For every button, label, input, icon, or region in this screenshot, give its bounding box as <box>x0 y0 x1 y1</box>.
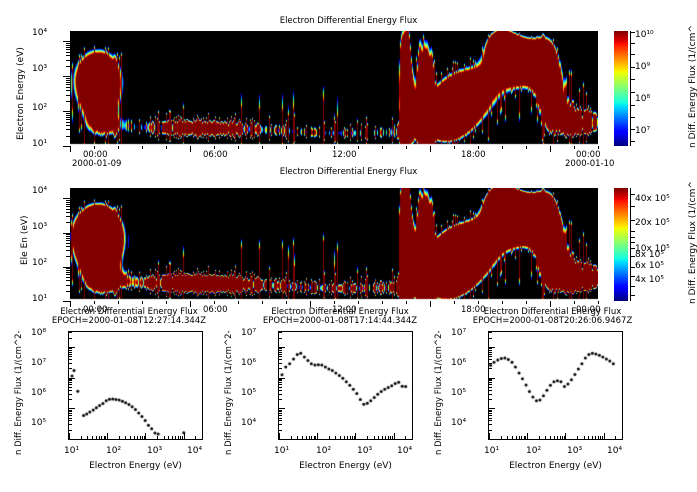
spectrum-1-ytick <box>69 348 72 349</box>
spectrogram-mid-xtick <box>478 301 479 304</box>
spectrogram-top-ytick <box>66 78 70 79</box>
spectrogram-mid-cbtick-5: 20x 10⁵ <box>635 218 670 228</box>
spectrum-2-ytick <box>279 356 282 357</box>
spectrogram-top-ytick <box>66 52 70 53</box>
spectrum-1-xtick <box>92 436 93 439</box>
spectrogram-mid-colorbar-label: n Diff. Energy Flux (1/(cm^ <box>688 181 697 304</box>
spectrum-2-ytick-3: 10⁶ <box>241 358 256 368</box>
spectrum-3-xtick <box>516 436 517 439</box>
spectrum-1-xtick <box>137 436 138 439</box>
spectrum-3-ytick-2: 10⁵ <box>451 388 466 398</box>
spectrogram-mid-ytick <box>66 204 70 205</box>
spectrum-1-ytick <box>69 379 72 380</box>
spectrum-1-ytick-2: 10⁶ <box>31 388 46 398</box>
spectrogram-mid-cbtick <box>630 248 635 249</box>
spectrum-2-xtick-2: 10² <box>316 446 331 456</box>
spectrogram-mid-ytick-4: 10⁴ <box>32 186 47 196</box>
spectrum-3-ytick <box>489 418 492 419</box>
spectrogram-mid-xtick <box>214 301 215 304</box>
spectrum-1-ytick-3: 10⁷ <box>31 358 46 368</box>
spectrum-1-ytick <box>69 430 72 431</box>
spectrum-1-ytick <box>69 424 72 425</box>
spectrum-1-ytick <box>69 368 72 369</box>
spectrum-1-ytick <box>69 399 72 400</box>
spectrum-1-xtick-4: 10⁴ <box>187 446 202 456</box>
spectrum-2-ytick <box>279 347 285 348</box>
spectrogram-mid-xtick <box>598 301 599 304</box>
spectrogram-mid-ytick <box>66 277 70 278</box>
spectrogram-top-xtick <box>454 146 455 149</box>
spectrum-3-xtick <box>560 436 561 439</box>
spectrum-1-xtick <box>125 436 126 439</box>
spectrum-3-xtick <box>615 436 616 439</box>
spectrogram-mid-ytick <box>66 268 70 269</box>
spectrogram-top-ylabel: Electron Energy (eV) <box>16 47 26 140</box>
spectrum-2-ytick <box>279 420 282 421</box>
spectrum-1-ytick <box>69 439 75 440</box>
spectrum-2-xtick <box>329 436 330 439</box>
spectrogram-top-xtick <box>262 146 263 149</box>
spectrum-2-xtick-3: 10³ <box>357 446 372 456</box>
spectrum-1-xtick-1: 10¹ <box>64 446 79 456</box>
spectrogram-top-xtick <box>406 146 407 149</box>
spectrum-1-ytick <box>69 387 72 388</box>
spectrogram-top-xtick <box>358 146 359 149</box>
spectrum-3-ytick <box>489 411 492 412</box>
spectrum-2-xtick <box>367 436 368 439</box>
spectrogram-top-ytick <box>66 125 70 126</box>
spectrum-3-xtick-2: 10² <box>526 446 541 456</box>
spectrogram-mid-ytick <box>66 238 70 239</box>
spectrum-2-plot[interactable] <box>278 331 413 440</box>
spectrogram-mid-ytick <box>66 202 70 203</box>
spectrogram-top-ytick <box>66 115 70 116</box>
spectrum-2-ytick <box>279 439 285 440</box>
spectrogram-top-xtick <box>478 146 479 149</box>
spectrum-2-ytick <box>279 424 282 425</box>
spectrogram-mid-cbtick <box>630 256 635 257</box>
spectrogram-mid-ytick <box>66 222 70 223</box>
spectrum-2-ytick <box>279 348 282 349</box>
spectrogram-mid-ytick <box>66 200 70 201</box>
spectrum-3-ytick <box>489 338 492 339</box>
spectrum-2-xtick <box>374 436 375 439</box>
spectrogram-top-ytick <box>66 122 70 123</box>
spectrum-3-xtick <box>554 436 555 439</box>
spectrum-2-xtick <box>352 436 353 439</box>
spectrogram-mid-xtick <box>454 301 455 304</box>
spectrum-2-ytick <box>279 352 282 353</box>
spectrum-2-ytick <box>279 415 282 416</box>
spectrogram-top-cbtick-3: 10⁹ <box>635 62 650 72</box>
spectrogram-top-ytick <box>66 117 70 118</box>
spectrum-1-xtick <box>87 436 88 439</box>
spectrum-2-ytick <box>279 363 282 364</box>
spectrogram-mid-ytick <box>63 233 70 234</box>
spectrum-2-xtick <box>306 436 307 439</box>
spectrogram-mid-colorbar-axis <box>630 188 631 301</box>
spectrogram-mid-ytick <box>66 280 70 281</box>
spectrogram-mid-cbtick <box>630 220 635 221</box>
spectrogram-mid-ytick <box>66 270 70 271</box>
spectrum-3-xtick <box>604 433 605 439</box>
spectrum-3-ytick <box>489 430 492 431</box>
spectrogram-top-ytick <box>66 66 70 67</box>
spectrogram-top-cbtick-1: 10⁷ <box>635 126 650 136</box>
spectrogram-mid-ytick-1: 10¹ <box>32 294 47 304</box>
spectrum-3-xtick <box>545 436 546 439</box>
spectrum-2-xtick-1: 10¹ <box>274 446 289 456</box>
spectrum-1-xtick <box>107 433 108 439</box>
spectrogram-top-cbtick <box>630 92 635 93</box>
spectrum-2-ytick <box>279 399 282 400</box>
spectrogram-top-cbtick <box>630 67 635 68</box>
spectrogram-mid-ytick <box>66 250 70 251</box>
spectrum-3-xlabel: Electron Energy (eV) <box>488 461 623 471</box>
spectrum-3-ytick-1: 10⁴ <box>451 418 466 428</box>
spectrum-3-xtick <box>600 436 601 439</box>
spectrum-1-ytick <box>69 354 72 355</box>
spectrum-1-ytick <box>69 332 72 333</box>
spectrogram-mid-xtick <box>430 301 431 307</box>
spectrogram-top-xtick <box>310 146 311 152</box>
spectrogram-top-xtick <box>94 146 95 149</box>
spectrogram-mid-xtick <box>382 301 383 304</box>
spectrum-3-ytick <box>489 415 492 416</box>
spectrum-1-xtick <box>180 436 181 439</box>
spectrum-1-xtick <box>104 436 105 439</box>
spectrum-2-xtick <box>314 436 315 439</box>
spectrum-2-ytick-4: 10⁷ <box>241 328 256 338</box>
spectrogram-top-ytick <box>66 90 70 91</box>
spectrum-1-ytick <box>69 390 72 391</box>
spectrogram-mid-xtick <box>262 301 263 304</box>
spectrogram-top-ytick-3: 10³ <box>32 64 47 74</box>
spectrum-3-xtick <box>539 436 540 439</box>
spectrogram-top-xtick <box>70 146 71 152</box>
spectrogram-top-xtick <box>574 146 575 149</box>
spectrogram-top-ytick-2: 10² <box>32 103 47 113</box>
spectrum-1-ytick <box>69 359 72 360</box>
spectrum-1-xtick <box>202 436 203 439</box>
spectrum-3-xtick <box>588 436 589 439</box>
spectrogram-top-ytick-1: 10¹ <box>32 139 47 149</box>
spectrogram-mid-cbtick <box>630 231 635 232</box>
spectrum-1-ytick <box>69 384 72 385</box>
spectrum-3-xtick <box>562 436 563 439</box>
spectrum-3-ytick <box>489 359 492 360</box>
spectrogram-top-cbtick <box>630 129 635 130</box>
spectrogram-top-ytick <box>66 80 70 81</box>
spectrum-1-ytick <box>69 420 72 421</box>
spectrum-3-ytick-4: 10⁷ <box>451 328 466 338</box>
spectrum-2-ytick <box>279 382 282 383</box>
spectrogram-top-ytick <box>66 129 70 130</box>
spectrum-3-ytick <box>489 348 492 349</box>
spectrum-2-xtick <box>382 436 383 439</box>
spectrum-1-xtick <box>157 436 158 439</box>
spectrogram-mid-cbtick-2: 6x 10⁵ <box>635 261 664 271</box>
spectrogram-top-ytick <box>66 113 70 114</box>
spectrum-2-xtick <box>297 436 298 439</box>
spectrum-2-ytick <box>279 350 282 351</box>
spectrum-1-ytick <box>69 350 72 351</box>
spectrum-2-xtick <box>390 436 391 439</box>
spectrogram-top-xtick <box>550 146 551 152</box>
spectrogram-top-ytick <box>66 101 70 102</box>
spectrum-3-xtick <box>527 433 528 439</box>
spectrum-1-ytick <box>69 380 72 381</box>
spectrum-2-ytick <box>279 368 282 369</box>
spectrogram-mid-plot[interactable] <box>70 188 598 301</box>
spectrum-3-ytick <box>489 413 492 414</box>
spectrogram-mid-title: Electron Differential Energy Flux <box>0 167 697 177</box>
spectrogram-top-ytick <box>66 45 70 46</box>
spectrum-2-xlabel: Electron Energy (eV) <box>278 461 413 471</box>
spectrogram-top-xtick <box>118 146 119 149</box>
spectrum-1-xtick <box>178 436 179 439</box>
spectrogram-mid-xtick <box>406 301 407 304</box>
spectrogram-mid-cbtick <box>630 194 635 195</box>
spectrum-1-xtick <box>168 436 169 439</box>
spectrum-3-ytick <box>489 439 495 440</box>
spectrum-1-xtick <box>134 436 135 439</box>
spectrogram-top-xtick-1: 06:00 <box>203 150 228 160</box>
spectrum-2-xtick <box>302 436 303 439</box>
spectrum-1-plot[interactable] <box>68 331 203 440</box>
spectrogram-top-ytick-4: 10⁴ <box>32 28 47 38</box>
spectrum-2-ytick <box>279 354 282 355</box>
spectrogram-top-xtick <box>142 146 143 149</box>
spectrum-1-xtick <box>175 436 176 439</box>
spectrum-2-xtick <box>347 436 348 439</box>
spectrogram-mid-ytick <box>66 243 70 244</box>
spectrum-3-ytick <box>489 394 492 395</box>
spectrum-2-xtick <box>344 436 345 439</box>
spectrum-2-ytick <box>279 338 282 339</box>
spectrogram-mid-ytick <box>66 212 70 213</box>
spectrogram-mid-ytick <box>66 246 70 247</box>
spectrum-3-xtick <box>521 436 522 439</box>
spectrum-3-ytick <box>489 390 492 391</box>
spectrum-3-ytick-3: 10⁶ <box>451 358 466 368</box>
spectrogram-top-ytick <box>66 47 70 48</box>
spectrogram-mid-ytick-3: 10³ <box>32 222 47 232</box>
spectrum-3-plot[interactable] <box>488 331 623 440</box>
spectrogram-top-ytick <box>63 111 70 112</box>
spectrum-1-xtick <box>145 433 146 439</box>
spectrum-3-xtick <box>577 436 578 439</box>
spectrum-2-ytick <box>279 394 282 395</box>
spectrum-3-ytick <box>489 354 492 355</box>
spectrum-3-epoch: EPOCH=2000-01-08T20:26:06.9467Z <box>455 316 650 326</box>
spectrogram-top-xtick <box>214 146 215 149</box>
spectrum-3-ytick <box>489 382 492 383</box>
spectrogram-mid-ytick <box>66 209 70 210</box>
spectrum-2-xtick <box>355 433 356 439</box>
spectrum-3-ytick <box>489 384 492 385</box>
spectrum-3-xtick <box>519 436 520 439</box>
spectrum-3-ytick <box>489 420 492 421</box>
spectrum-3-ytick <box>489 378 495 379</box>
spectrogram-top-xtick <box>166 146 167 149</box>
spectrogram-top-xtick <box>190 146 191 152</box>
spectrum-1-ytick <box>69 408 75 409</box>
spectrogram-mid-cbtick-1: 4x 10⁵ <box>635 275 664 285</box>
spectrogram-mid-cbtick <box>630 206 635 207</box>
spectrogram-mid-ytick <box>66 234 70 235</box>
spectrum-1-ytick-4: 10⁸ <box>31 328 46 338</box>
spectrum-3-ytick <box>489 387 492 388</box>
spectrum-2-xtick <box>412 436 413 439</box>
spectrum-3-xtick-4: 10⁴ <box>607 446 622 456</box>
spectrogram-top-cbtick <box>630 54 635 55</box>
spectrogram-top-ytick <box>66 84 70 85</box>
spectrum-3-ytick <box>489 347 495 348</box>
spectrogram-mid-cbtick <box>630 286 635 287</box>
spectrum-2-ytick <box>279 430 282 431</box>
spectrogram-top-ytick <box>66 43 70 44</box>
spectrum-2-ytick <box>279 408 285 409</box>
spectrum-2-xtick <box>309 436 310 439</box>
spectrogram-top-xtick-2: 12:00 <box>332 150 357 160</box>
spectrogram-top-cbtick <box>630 43 635 44</box>
spectrum-2-ytick <box>279 384 282 385</box>
spectrum-2-xtick <box>388 436 389 439</box>
spectrum-2-ytick <box>279 411 282 412</box>
spectrum-2-ytick-2: 10⁵ <box>241 388 256 398</box>
spectrum-3-xtick <box>512 436 513 439</box>
spectrogram-mid-xtick <box>166 301 167 304</box>
spectrum-3-xtick <box>501 436 502 439</box>
spectrum-2-xtick <box>405 436 406 439</box>
spectrum-3-ytick <box>489 350 492 351</box>
spectrum-1-ytick <box>69 410 72 411</box>
spectrogram-top-ytick <box>63 146 70 147</box>
spectrum-3-xtick <box>598 436 599 439</box>
spectrum-2-xtick <box>335 436 336 439</box>
spectrum-2-ytick <box>279 390 282 391</box>
spectrum-2-ytick <box>279 413 282 414</box>
spectrogram-top-ytick <box>63 76 70 77</box>
spectrum-2-ylabel: n Diff. Energy Flux (1/(cm^2- <box>224 330 234 455</box>
spectrum-3-ytick <box>489 410 492 411</box>
spectrogram-top-cbtick <box>630 105 635 106</box>
spectrum-1-xtick <box>101 436 102 439</box>
spectrum-2-ytick <box>279 387 282 388</box>
spectrum-1-xtick <box>195 436 196 439</box>
spectrogram-top-ytick <box>66 95 70 96</box>
spectrum-1-ytick <box>69 394 72 395</box>
spectrum-1-xtick <box>142 436 143 439</box>
spectrogram-mid-xtick <box>70 301 71 307</box>
spectrum-3-xtick <box>550 436 551 439</box>
spectrum-1-xtick <box>99 436 100 439</box>
spectrum-1-ytick <box>69 356 72 357</box>
spectrogram-top-ytick <box>66 82 70 83</box>
spectrogram-top-colorbar[interactable] <box>614 31 628 146</box>
spectrum-1-ylabel: n Diff. Energy Flux (1/(cm^2- <box>14 330 24 455</box>
spectrogram-mid-xtick <box>238 301 239 304</box>
spectrum-1-xtick <box>184 433 185 439</box>
spectrogram-mid-ytick <box>66 285 70 286</box>
spectrum-3-ytick <box>489 356 492 357</box>
spectrogram-mid-xtick <box>94 301 95 304</box>
spectrogram-top-xtick <box>526 146 527 149</box>
spectrogram-top-ytick <box>66 136 70 137</box>
spectrum-3-xtick <box>507 436 508 439</box>
spectrogram-mid-colorbar[interactable] <box>614 188 628 301</box>
spectrogram-top-cbtick-2: 10⁸ <box>635 94 650 104</box>
spectrogram-mid-xtick <box>358 301 359 304</box>
spectrum-2-xtick <box>291 436 292 439</box>
spectrum-1-xtick <box>140 436 141 439</box>
spectrogram-top-xtick <box>502 146 503 149</box>
spectrogram-mid-xtick <box>526 301 527 304</box>
spectrogram-mid-ytick <box>66 291 70 292</box>
spectrum-1-xtick <box>96 436 97 439</box>
spectrogram-top-xtick-3: 18:00 <box>461 150 486 160</box>
spectrum-3-ytick <box>489 380 492 381</box>
spectrogram-mid-ytick <box>63 267 70 268</box>
spectrogram-top-cbtick <box>630 141 635 142</box>
spectrum-3-ytick <box>489 424 492 425</box>
spectrogram-top-xtick <box>238 146 239 149</box>
spectrogram-mid-ytick <box>66 240 70 241</box>
spectrum-3-ylabel: n Diff. Energy Flux (1/(cm^2- <box>434 330 444 455</box>
spectrum-3-xtick <box>565 433 566 439</box>
spectrogram-top-colorbar-label: n Diff. Energy Flux (1/(cm^ <box>688 25 697 148</box>
spectrum-3-ytick <box>489 332 492 333</box>
spectrum-1-ytick <box>69 415 72 416</box>
spectrogram-mid-ylabel: Ele En (eV) <box>20 215 30 265</box>
spectrogram-top-ytick <box>66 87 70 88</box>
spectrum-3-ytick <box>489 352 492 353</box>
spectrogram-top-xtick <box>598 146 599 149</box>
spectrum-2-ytick <box>279 332 282 333</box>
spectrum-3-ytick <box>489 379 492 380</box>
spectrogram-top-xtick <box>334 146 335 149</box>
spectrum-3-xtick-3: 10³ <box>567 446 582 456</box>
spectrogram-top-title: Electron Differential Energy Flux <box>0 16 697 26</box>
spectrogram-mid-ytick <box>63 198 70 199</box>
spectrogram-mid-cbtick <box>630 242 635 243</box>
spectrum-1-ytick <box>69 411 72 412</box>
spectrogram-top-cbtick <box>630 79 635 80</box>
spectrum-2-ytick <box>279 378 285 379</box>
spectrum-1-ytick <box>69 418 72 419</box>
spectrum-3-ytick <box>489 363 492 364</box>
spectrum-1-epoch: EPOCH=2000-01-08T12:27:14.344Z <box>34 316 224 326</box>
spectrogram-top-ytick <box>66 119 70 120</box>
spectrogram-mid-ytick <box>66 256 70 257</box>
spectrum-1-ytick <box>69 413 72 414</box>
spectrogram-mid-xtick <box>550 301 551 307</box>
spectrum-1-ytick <box>69 352 72 353</box>
spectrum-3-ytick <box>489 408 495 409</box>
spectrum-2-xtick <box>317 433 318 439</box>
spectrum-1-ytick <box>69 382 72 383</box>
spectrogram-mid-cbtick-3: 8x 10⁵ <box>635 250 664 260</box>
spectrogram-top-ytick <box>66 55 70 56</box>
spectrum-2-xtick <box>394 433 395 439</box>
spectrum-2-ytick-1: 10⁴ <box>241 418 256 428</box>
spectrum-2-epoch: EPOCH=2000-01-08T17:14:44.344Z <box>245 316 435 326</box>
spectrogram-mid-ytick <box>63 301 70 302</box>
spectrum-3-xtick <box>592 436 593 439</box>
spectrogram-top-plot[interactable] <box>70 31 598 146</box>
spectrum-3-xtick <box>524 436 525 439</box>
